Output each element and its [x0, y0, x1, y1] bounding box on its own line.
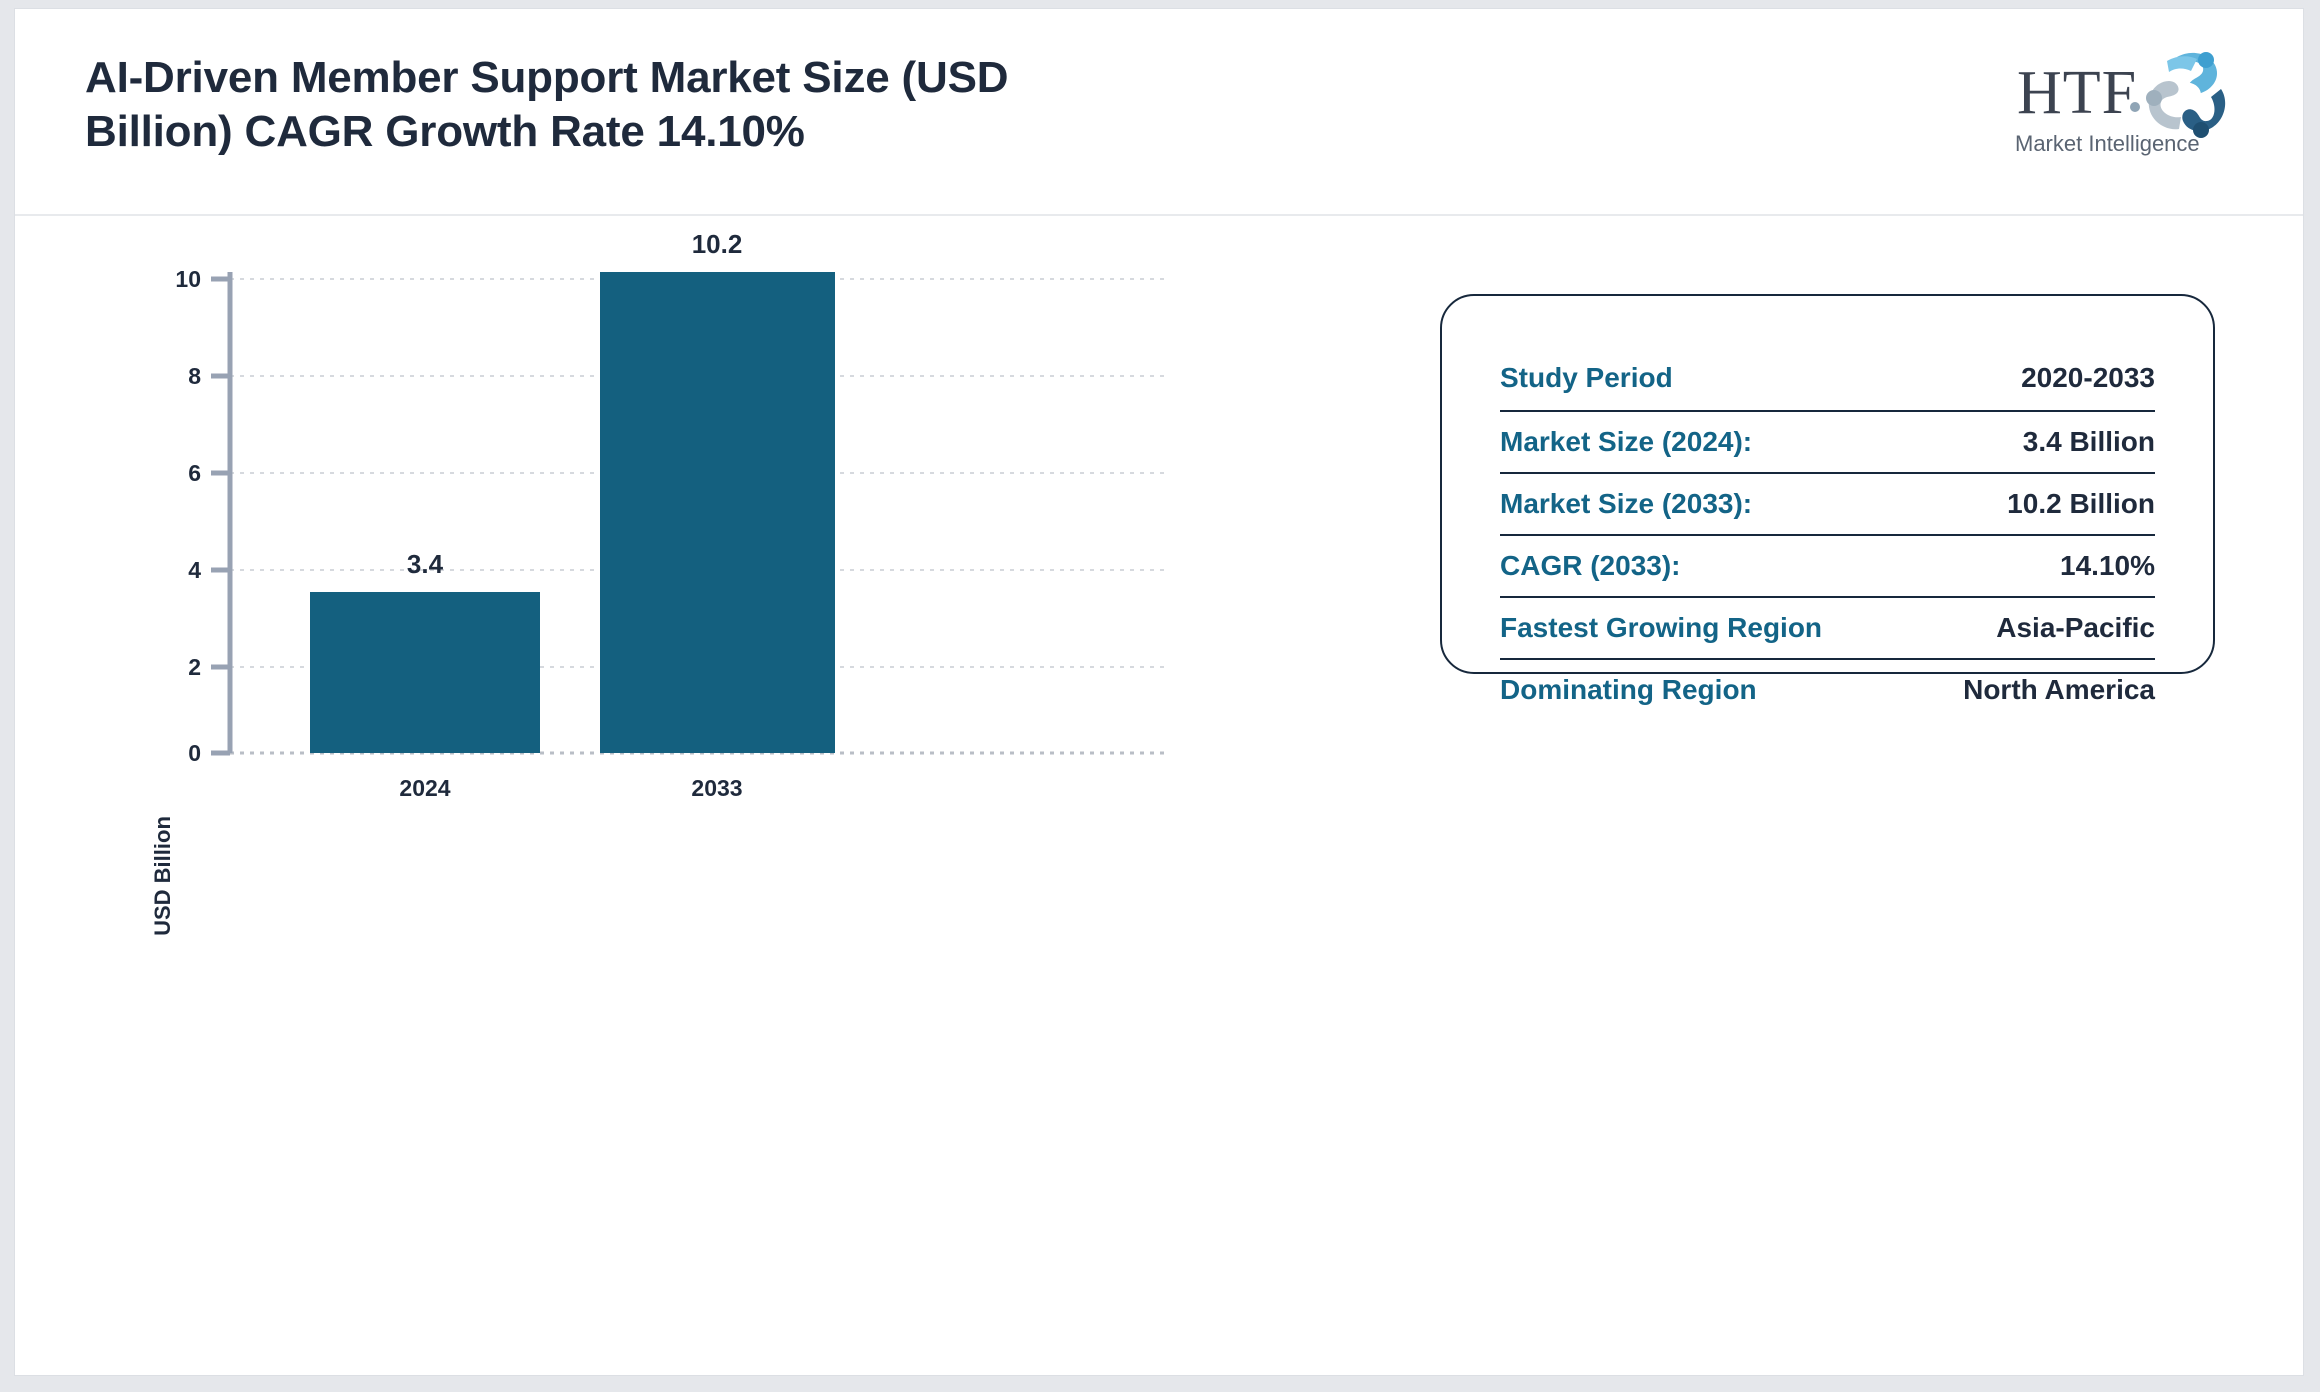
- y-tick-label: 0: [188, 740, 201, 766]
- bar-chart: USD Billion: [15, 216, 1335, 1377]
- bar-label-2024: 3.4: [407, 549, 444, 579]
- info-value: Asia-Pacific: [1996, 598, 2155, 644]
- page-root: AI-Driven Member Support Market Size (US…: [0, 0, 2320, 1392]
- bar-label-2033: 10.2: [692, 229, 743, 259]
- svg-text:HTF: HTF: [2017, 59, 2137, 127]
- x-tick-label-2024: 2024: [399, 775, 450, 801]
- x-tick-label-2033: 2033: [691, 775, 742, 801]
- bar-2033[interactable]: [600, 272, 835, 753]
- market-summary-panel: Study Period 2020-2033 Market Size (2024…: [1440, 294, 2215, 674]
- y-tick-label: 6: [188, 460, 201, 486]
- htf-logo: HTF: [2015, 45, 2265, 160]
- y-tick-marks: [211, 279, 230, 753]
- info-label: Dominating Region: [1500, 660, 1757, 706]
- info-row-market-size-2024: Market Size (2024): 3.4 Billion: [1500, 410, 2155, 472]
- x-tick-labels: 2024 2033: [399, 775, 742, 801]
- y-axis-title: USD Billion: [150, 816, 175, 936]
- info-value: 14.10%: [2060, 536, 2155, 582]
- info-row-fastest-growing-region: Fastest Growing Region Asia-Pacific: [1500, 596, 2155, 658]
- info-row-study-period: Study Period 2020-2033: [1500, 348, 2155, 410]
- report-card: AI-Driven Member Support Market Size (US…: [14, 8, 2304, 1376]
- svg-text:Market Intelligence: Market Intelligence: [2015, 131, 2200, 156]
- page-title-line-2: Billion) CAGR Growth Rate 14.10%: [85, 107, 805, 156]
- y-tick-label: 4: [188, 557, 201, 583]
- info-value: 10.2 Billion: [2007, 474, 2155, 520]
- info-value: 2020-2033: [2021, 348, 2155, 394]
- info-label: Fastest Growing Region: [1500, 598, 1822, 644]
- y-tick-labels: 10 8 6 4 2 0: [175, 266, 201, 766]
- info-label: Study Period: [1500, 348, 1673, 394]
- info-value: 3.4 Billion: [2023, 412, 2155, 458]
- info-row-market-size-2033: Market Size (2033): 10.2 Billion: [1500, 472, 2155, 534]
- y-tick-label: 10: [175, 266, 201, 292]
- info-row-dominating-region: Dominating Region North America: [1500, 658, 2155, 720]
- header: AI-Driven Member Support Market Size (US…: [15, 9, 2303, 216]
- bar-2024[interactable]: [310, 592, 540, 753]
- info-label: Market Size (2024):: [1500, 412, 1752, 458]
- page-title: AI-Driven Member Support Market Size (US…: [85, 51, 1485, 158]
- info-label: CAGR (2033):: [1500, 536, 1680, 582]
- page-title-line-1: AI-Driven Member Support Market Size (US…: [85, 53, 1008, 102]
- info-value: North America: [1963, 660, 2155, 706]
- y-tick-label: 8: [188, 363, 201, 389]
- info-row-cagr-2033: CAGR (2033): 14.10%: [1500, 534, 2155, 596]
- y-tick-label: 2: [188, 654, 201, 680]
- info-label: Market Size (2033):: [1500, 474, 1752, 520]
